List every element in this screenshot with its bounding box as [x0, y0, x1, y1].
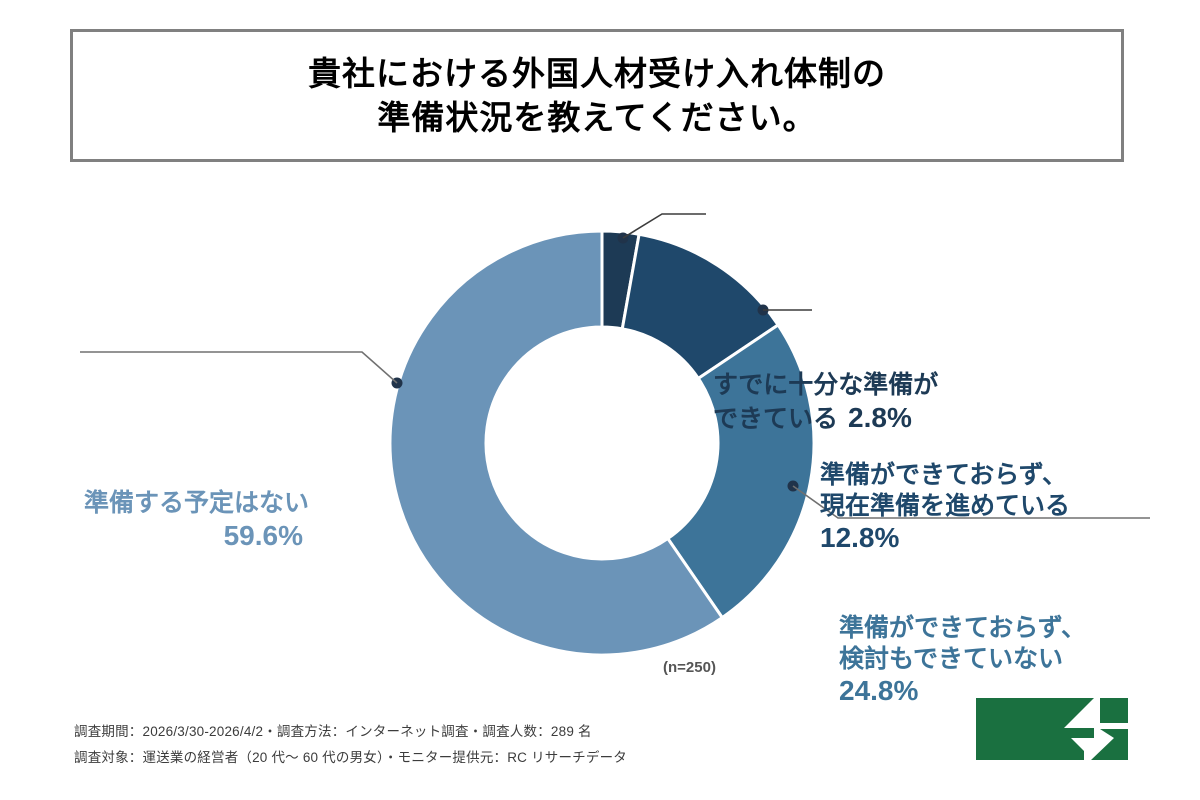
callout-4-line-1: 準備する予定はない	[84, 488, 309, 519]
callout-1-line-2: できている	[713, 405, 838, 433]
callout-label-4: 準備する予定はない 59.6%	[84, 488, 309, 553]
callout-1-percent: 2.8%	[848, 402, 912, 433]
page-title-line-2: 準備状況を教えてください。	[377, 96, 816, 140]
callout-label-1: すでに十分な準備が できている2.8%	[713, 370, 938, 435]
footnotes: 調査期間：2026/3/30-2026/4/2・調査方法：インターネット調査・調…	[74, 719, 627, 772]
callout-1-line-1: すでに十分な準備が	[713, 370, 938, 401]
title-box: 貴社における外国人材受け入れ体制の 準備状況を教えてください。	[70, 29, 1124, 162]
page-title-line-1: 貴社における外国人材受け入れ体制の	[308, 52, 886, 96]
callout-label-2: 準備ができておらず、 現在準備を進めている 12.8%	[820, 460, 1070, 555]
sample-size-label: (n=250)	[663, 659, 716, 676]
company-logo	[976, 698, 1128, 770]
callout-3-line-1: 準備ができておらず、	[839, 613, 1086, 644]
callout-2-line-2: 現在準備を進めている	[820, 491, 1070, 522]
callout-label-3: 準備ができておらず、 検討もできていない 24.8%	[839, 613, 1086, 708]
logo-mark	[976, 698, 1128, 760]
footnote-line-1: 調査期間：2026/3/30-2026/4/2・調査方法：インターネット調査・調…	[74, 719, 627, 745]
callout-2-percent: 12.8%	[820, 521, 1070, 555]
callout-4-percent: 59.6%	[84, 519, 309, 553]
footnote-line-2: 調査対象：運送業の経営者（20 代〜 60 代の男女）・モニター提供元：RC リ…	[74, 745, 627, 771]
donut-chart: すでに十分な準備が できている2.8% 準備ができておらず、 現在準備を進めてい…	[0, 170, 1200, 700]
callout-2-line-1: 準備ができておらず、	[820, 460, 1070, 491]
leader-line-4	[80, 352, 403, 389]
callout-3-line-2: 検討もできていない	[839, 644, 1086, 675]
leader-line-2	[758, 305, 813, 316]
